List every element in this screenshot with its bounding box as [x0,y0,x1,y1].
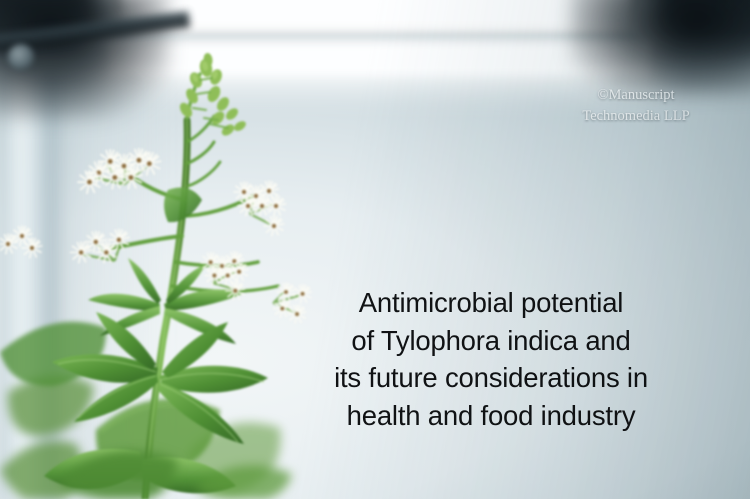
title-line-1: Antimicrobial potential [286,284,696,322]
title-line-4: health and food industry [286,397,696,435]
title-line-2: of Tylophora indica and [286,322,696,360]
copyright-line-1: ©Manuscript [556,85,716,106]
cover-title: Antimicrobial potential of Tylophora ind… [286,284,696,434]
poster-image: ©Manuscript Technomedia LLP Antimicrobia… [0,0,750,499]
title-line-3: its future considerations in [286,359,696,397]
copyright-notice: ©Manuscript Technomedia LLP [556,85,716,127]
copyright-line-2: Technomedia LLP [556,106,716,127]
